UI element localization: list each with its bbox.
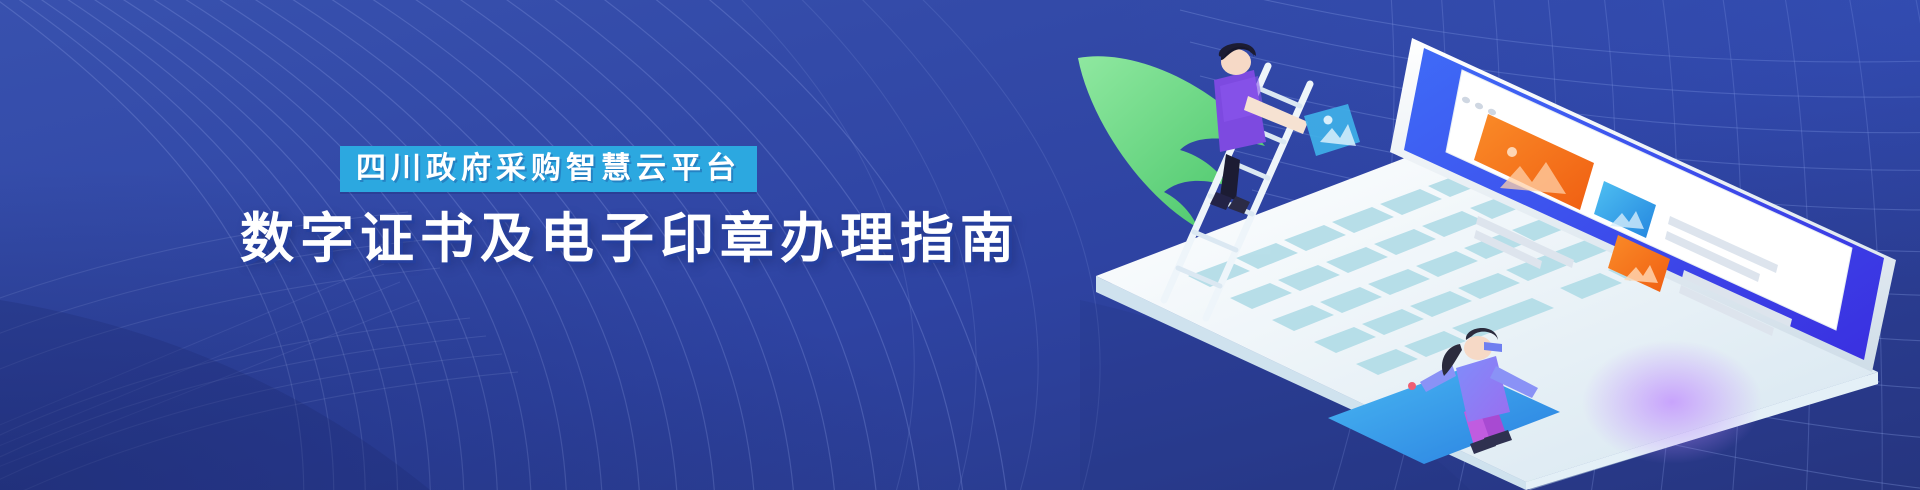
platform-badge: 四川政府采购智慧云平台 — [340, 146, 757, 192]
banner-text-block: 四川政府采购智慧云平台 数字证书及电子印章办理指南 — [0, 0, 1000, 490]
person-on-ladder — [1210, 43, 1308, 214]
screen-glow — [1582, 340, 1762, 464]
isometric-laptop-illustration — [1060, 0, 1920, 490]
floating-image-card — [1304, 104, 1360, 156]
page-title: 数字证书及电子印章办理指南 — [240, 208, 1020, 270]
platform-badge-label: 四川政府采购智慧云平台 — [356, 154, 741, 184]
promo-banner: 四川政府采购智慧云平台 数字证书及电子印章办理指南 — [0, 0, 1920, 490]
keyboard-pointer-dot — [1408, 382, 1416, 390]
